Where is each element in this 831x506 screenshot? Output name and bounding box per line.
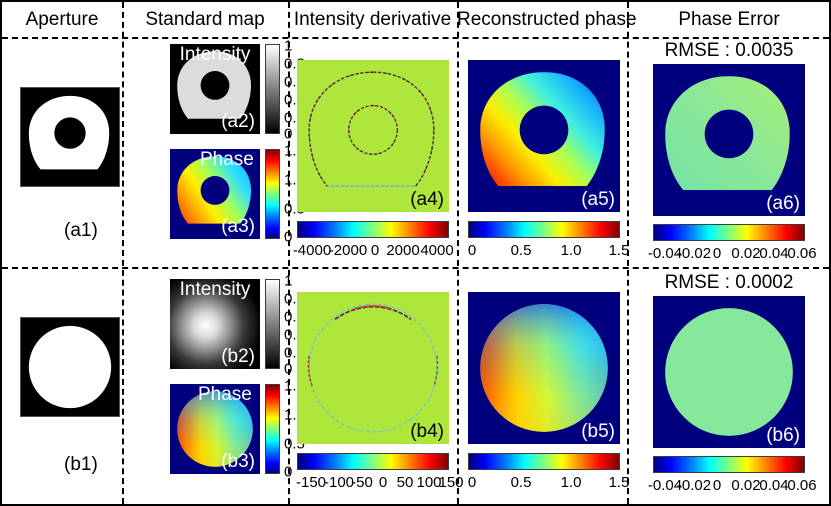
colorbar-tick: -50: [351, 474, 373, 491]
colorbar-reconstructed-b5: [468, 453, 620, 470]
panel-title-intensity-a2: Intensity: [180, 44, 251, 66]
panel-title-phase-b3: Phase: [198, 384, 252, 406]
colorbar-tick: 1.0: [561, 474, 582, 491]
panel-label-a5: (a5): [581, 189, 615, 211]
header-reconstructed-phase: Reconstructed phase: [457, 2, 627, 38]
row-divider: [2, 267, 829, 269]
colorbar-tick: 0: [284, 361, 292, 378]
panel-derivative-a4: (a4): [297, 60, 449, 212]
colorbar-tick: 0: [284, 229, 292, 246]
colorbar-tick: 0.04: [759, 477, 788, 494]
panel-aperture-a1: [20, 87, 120, 187]
colorbar-tick: 150: [438, 474, 463, 491]
colorbar-tick: 0.5: [511, 474, 532, 491]
aperture-label-a1: (a1): [64, 220, 98, 242]
colorbar-tick: 2000: [386, 242, 419, 259]
panel-reconstructed-a5: (a5): [468, 60, 620, 212]
rmse-label-b6: RMSE : 0.0002: [627, 272, 831, 294]
colorbar-tick: 0: [379, 474, 387, 491]
colorbar-tick: 0.02: [731, 245, 760, 262]
panel-label-a4: (a4): [410, 189, 444, 211]
colorbar-derivative-b4: [297, 453, 449, 470]
panel-label-b4: (b4): [410, 421, 444, 443]
colorbar-tick: 1: [284, 38, 292, 55]
colorbar-error-b6: [653, 456, 805, 473]
colorbar-reconstructed-a5: [468, 221, 620, 238]
panel-title-phase-a3: Phase: [200, 149, 254, 171]
colorbar-intensity-a2: [265, 44, 280, 134]
colorbar-tick: 0: [468, 474, 476, 491]
panel-label-b5: (b5): [581, 421, 615, 443]
panel-phase-a3: Phase (a3): [170, 149, 260, 239]
column-divider-3: [457, 2, 459, 504]
column-divider-1: [122, 2, 124, 504]
colorbar-tick: 1: [284, 273, 292, 290]
colorbar-tick: -150: [296, 474, 326, 491]
header-aperture: Aperture: [2, 2, 122, 38]
header-intensity-derivative: Intensity derivative: [288, 2, 457, 38]
aperture-shape-a1: [21, 88, 119, 186]
colorbar-tick: 1.0: [561, 242, 582, 259]
panel-label-a3: (a3): [221, 216, 255, 238]
colorbar-tick: 1.5: [609, 474, 630, 491]
aperture-label-b1: (b1): [64, 454, 98, 476]
header-phase-error: Phase Error: [627, 2, 831, 38]
panel-title-intensity-b2: Intensity: [180, 279, 251, 301]
colorbar-tick: -2000: [329, 242, 367, 259]
colorbar-tick: 0: [713, 477, 721, 494]
colorbar-tick: -100: [324, 474, 354, 491]
panel-intensity-a2: Intensity (a2): [170, 44, 260, 134]
colorbar-tick: 50: [397, 474, 414, 491]
colorbar-tick: -0.02: [677, 245, 711, 262]
colorbar-tick: 0: [713, 245, 721, 262]
panel-label-b3: (b3): [221, 451, 255, 473]
header-standard-map: Standard map: [122, 2, 288, 38]
panel-reconstructed-b5: (b5): [468, 292, 620, 444]
panel-intensity-b2: Intensity (b2): [170, 279, 260, 369]
aperture-shape-b1: [21, 318, 119, 416]
colorbar-tick: 1.5: [609, 242, 630, 259]
colorbar-phase-a3: [265, 149, 280, 239]
panel-derivative-b4: (b4): [297, 292, 449, 444]
panel-phase-b3: Phase (b3): [170, 384, 260, 474]
colorbar-derivative-a4: [297, 221, 449, 238]
panel-label-a6: (a6): [766, 193, 800, 215]
colorbar-tick: 4000: [420, 242, 453, 259]
colorbar-tick: 0: [284, 464, 292, 481]
panel-error-b6: (b6): [653, 296, 805, 448]
colorbar-tick: 0.06: [787, 477, 816, 494]
colorbar-tick: 0.06: [787, 245, 816, 262]
panel-aperture-b1: [20, 317, 120, 417]
colorbar-error-a6: [653, 224, 805, 241]
rmse-label-a6: RMSE : 0.0035: [627, 40, 831, 62]
colorbar-tick: 0.04: [759, 245, 788, 262]
panel-label-b2: (b2): [221, 346, 255, 368]
panel-label-a2: (a2): [221, 111, 255, 133]
colorbar-tick: 0: [284, 126, 292, 143]
colorbar-tick: 0.5: [511, 242, 532, 259]
colorbar-tick: 0.02: [731, 477, 760, 494]
panel-error-a6: (a6): [653, 64, 805, 216]
colorbar-intensity-b2: [265, 279, 280, 369]
figure-root: Aperture Standard map Intensity derivati…: [0, 0, 831, 506]
colorbar-phase-b3: [265, 384, 280, 474]
colorbar-tick: -4000: [293, 242, 331, 259]
colorbar-tick: 0: [371, 242, 379, 259]
colorbar-tick: -0.02: [677, 477, 711, 494]
colorbar-tick: 0: [468, 242, 476, 259]
panel-label-b6: (b6): [766, 425, 800, 447]
